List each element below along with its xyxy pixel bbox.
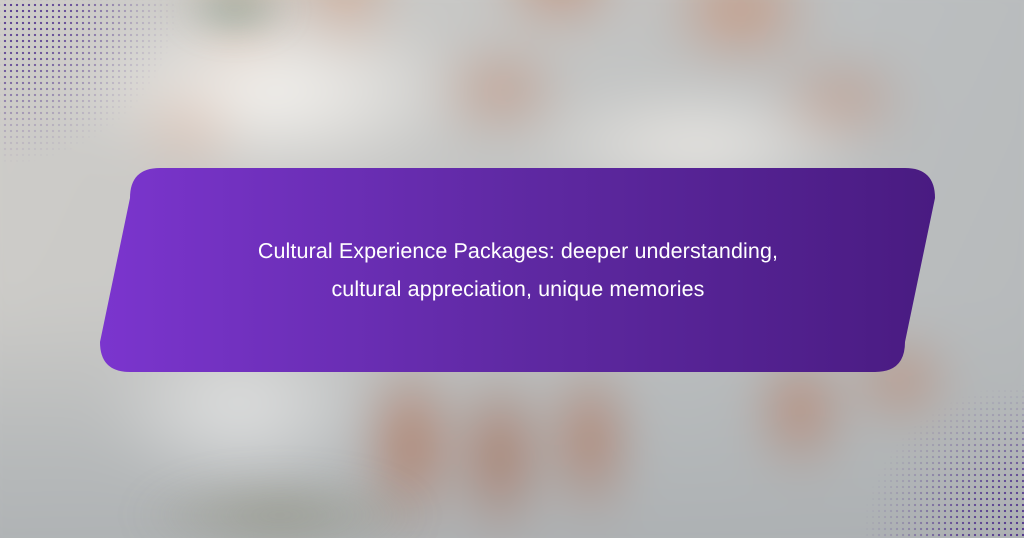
banner-headline-line-1: Cultural Experience Packages: deeper und… — [258, 238, 778, 265]
background-blur-blob-green — [130, 470, 430, 538]
banner-headline-line-2: cultural appreciation, unique memories — [331, 276, 704, 303]
background-blur-blob-teal — [175, 0, 295, 40]
banner-canvas: Cultural Experience Packages: deeper und… — [0, 0, 1024, 538]
banner-headline: Cultural Experience Packages: deeper und… — [150, 168, 886, 372]
